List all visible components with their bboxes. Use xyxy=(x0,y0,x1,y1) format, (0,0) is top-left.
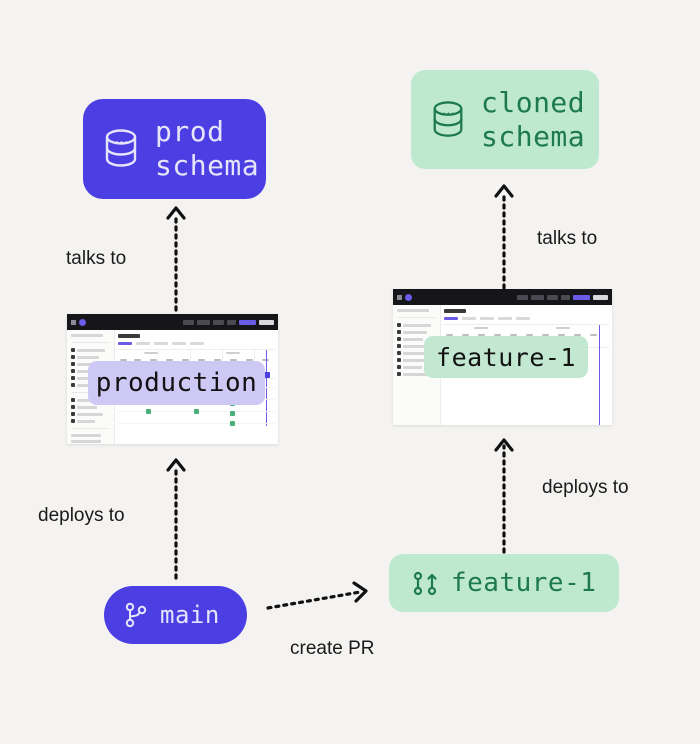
content-title xyxy=(118,334,140,338)
menu-icon xyxy=(71,320,76,325)
sidebar-item xyxy=(397,323,436,327)
database-icon xyxy=(101,127,141,171)
arrow-create-pr xyxy=(266,578,378,618)
tab-item xyxy=(516,317,530,320)
sidebar-divider xyxy=(72,342,109,343)
tab-item xyxy=(190,342,204,345)
git-branch-icon xyxy=(124,602,148,628)
sidebar-divider xyxy=(398,317,435,318)
edge-label-main-deploys-to: deploys to xyxy=(38,505,125,527)
sidebar-divider xyxy=(72,428,109,429)
overlay-feature-label: feature-1 xyxy=(424,336,588,378)
arrow-feature-deploys-to xyxy=(486,432,522,554)
database-icon xyxy=(429,98,467,142)
node-prod-schema[interactable]: prod schema xyxy=(83,99,266,199)
app-logo-icon xyxy=(79,319,86,326)
app-logo-icon xyxy=(405,294,412,301)
arrow-main-deploys-to xyxy=(158,452,194,580)
arrow-cloned-talks-to xyxy=(486,178,522,290)
tab-item xyxy=(480,317,494,320)
screenshot-topbar xyxy=(67,314,278,330)
content-title xyxy=(444,309,466,313)
sidebar-item xyxy=(397,330,436,334)
sidebar-item xyxy=(71,405,110,409)
tab-item xyxy=(444,317,458,320)
sidebar-item xyxy=(71,434,110,437)
topbar-item xyxy=(183,320,194,325)
sidebar-item xyxy=(71,355,110,359)
topbar-item xyxy=(517,295,528,300)
topbar-item xyxy=(561,295,570,300)
sidebar-header xyxy=(397,309,436,312)
diagram-canvas: prod schema cloned schema xyxy=(0,0,700,744)
edge-label-prod-talks-to: talks to xyxy=(66,248,126,270)
menu-icon xyxy=(397,295,402,300)
topbar-item xyxy=(197,320,210,325)
node-cloned-schema-label: cloned schema xyxy=(481,86,585,154)
node-cloned-schema[interactable]: cloned schema xyxy=(411,70,599,169)
pull-request-icon xyxy=(411,569,439,597)
sidebar-item xyxy=(71,412,110,416)
tab-item xyxy=(154,342,168,345)
topbar-item xyxy=(547,295,558,300)
content-tabs xyxy=(444,317,609,320)
topbar-item xyxy=(213,320,224,325)
topbar-account xyxy=(593,295,608,300)
node-main-branch-label: main xyxy=(160,601,220,629)
sidebar-item xyxy=(71,348,110,352)
sidebar-item xyxy=(71,419,110,423)
topbar-item xyxy=(531,295,544,300)
edge-label-create-pr: create PR xyxy=(290,638,374,660)
tab-item xyxy=(498,317,512,320)
tab-item xyxy=(172,342,186,345)
tab-item xyxy=(462,317,476,320)
node-main-branch[interactable]: main xyxy=(104,586,247,644)
tab-item xyxy=(136,342,150,345)
edge-label-feature-deploys-to: deploys to xyxy=(542,477,629,499)
node-feature-branch-label: feature-1 xyxy=(451,568,596,598)
arrow-prod-talks-to xyxy=(158,200,194,312)
node-feature-branch[interactable]: feature-1 xyxy=(389,554,619,612)
topbar-account xyxy=(259,320,274,325)
overlay-production-label: production xyxy=(88,361,265,405)
edge-label-cloned-talks-to: talks to xyxy=(537,228,597,250)
topbar-badge xyxy=(239,320,256,325)
tab-item xyxy=(118,342,132,345)
content-tabs xyxy=(118,342,275,345)
topbar-badge xyxy=(573,295,590,300)
sidebar-item xyxy=(71,440,110,443)
sidebar-header xyxy=(71,334,110,337)
topbar-item xyxy=(227,320,236,325)
screenshot-topbar xyxy=(393,289,612,305)
node-prod-schema-label: prod schema xyxy=(155,115,259,183)
